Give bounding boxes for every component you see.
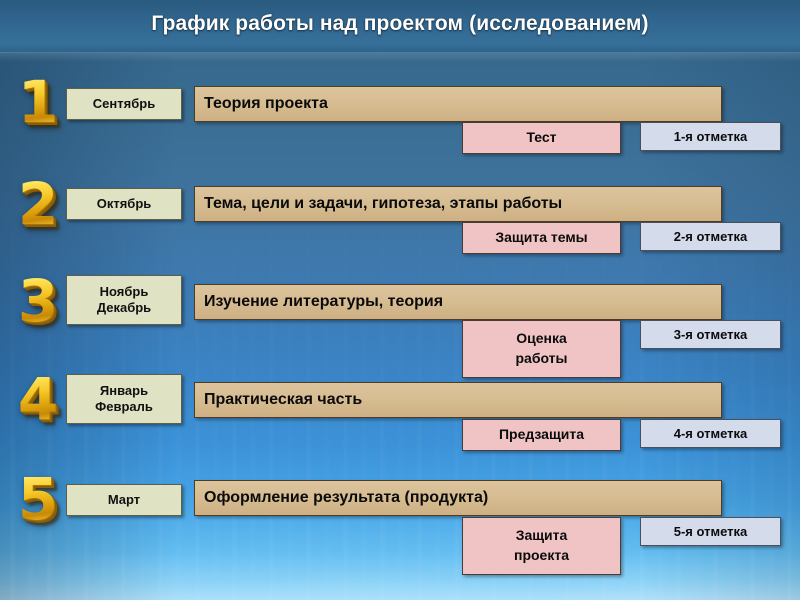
step-number: 5 xyxy=(12,470,64,528)
milestone-box: Тест xyxy=(462,122,621,154)
milestone-box: Защита темы xyxy=(462,222,621,254)
task-bar-label: Теория проекта xyxy=(204,95,328,113)
task-bar: Тема, цели и задачи, гипотеза, этапы раб… xyxy=(194,186,722,222)
task-bar-label: Практическая часть xyxy=(204,391,362,409)
mark-box: 3-я отметка xyxy=(640,320,781,349)
mark-box: 1-я отметка xyxy=(640,122,781,151)
month-label: ЯнварьФевраль xyxy=(66,374,182,424)
mark-box: 5-я отметка xyxy=(640,517,781,546)
month-line: Декабрь xyxy=(97,300,151,316)
milestone-box: Защитапроекта xyxy=(462,517,621,575)
month-line: Сентябрь xyxy=(93,96,155,112)
slide: График работы над проектом (исследование… xyxy=(0,0,800,600)
month-line: Март xyxy=(108,492,140,508)
milestone-line: проекта xyxy=(514,546,569,566)
month-line: Февраль xyxy=(95,399,153,415)
task-bar: Теория проекта xyxy=(194,86,722,122)
mark-label: 3-я отметка xyxy=(674,327,748,342)
mark-label: 5-я отметка xyxy=(674,524,748,539)
step-number: 1 xyxy=(12,73,64,131)
milestone-line: работы xyxy=(515,349,567,369)
month-line: Октябрь xyxy=(97,196,152,212)
milestone-line: Защита темы xyxy=(495,228,587,248)
step-number: 3 xyxy=(12,272,64,330)
step-number: 2 xyxy=(12,175,64,233)
task-bar: Оформление результата (продукта) xyxy=(194,480,722,516)
month-label: Сентябрь xyxy=(66,88,182,120)
month-label: Март xyxy=(66,484,182,516)
milestone-line: Предзащита xyxy=(499,425,584,445)
mark-box: 2-я отметка xyxy=(640,222,781,251)
task-bar-label: Оформление результата (продукта) xyxy=(204,489,488,507)
task-bar-label: Тема, цели и задачи, гипотеза, этапы раб… xyxy=(204,195,562,213)
step-number: 4 xyxy=(12,370,64,428)
task-bar-label: Изучение литературы, теория xyxy=(204,293,443,311)
task-bar: Изучение литературы, теория xyxy=(194,284,722,320)
mark-label: 2-я отметка xyxy=(674,229,748,244)
milestone-line: Оценка xyxy=(516,329,567,349)
month-line: Январь xyxy=(100,383,148,399)
milestone-line: Защита xyxy=(516,526,568,546)
month-label: Октябрь xyxy=(66,188,182,220)
task-bar: Практическая часть xyxy=(194,382,722,418)
milestone-line: Тест xyxy=(526,128,556,148)
milestone-box: Оценкаработы xyxy=(462,320,621,378)
mark-box: 4-я отметка xyxy=(640,419,781,448)
month-line: Ноябрь xyxy=(100,284,149,300)
mark-label: 4-я отметка xyxy=(674,426,748,441)
milestone-box: Предзащита xyxy=(462,419,621,451)
month-label: НоябрьДекабрь xyxy=(66,275,182,325)
timeline-rows: 1СентябрьТеория проектаТест1-я отметка2О… xyxy=(0,0,800,600)
mark-label: 1-я отметка xyxy=(674,129,748,144)
